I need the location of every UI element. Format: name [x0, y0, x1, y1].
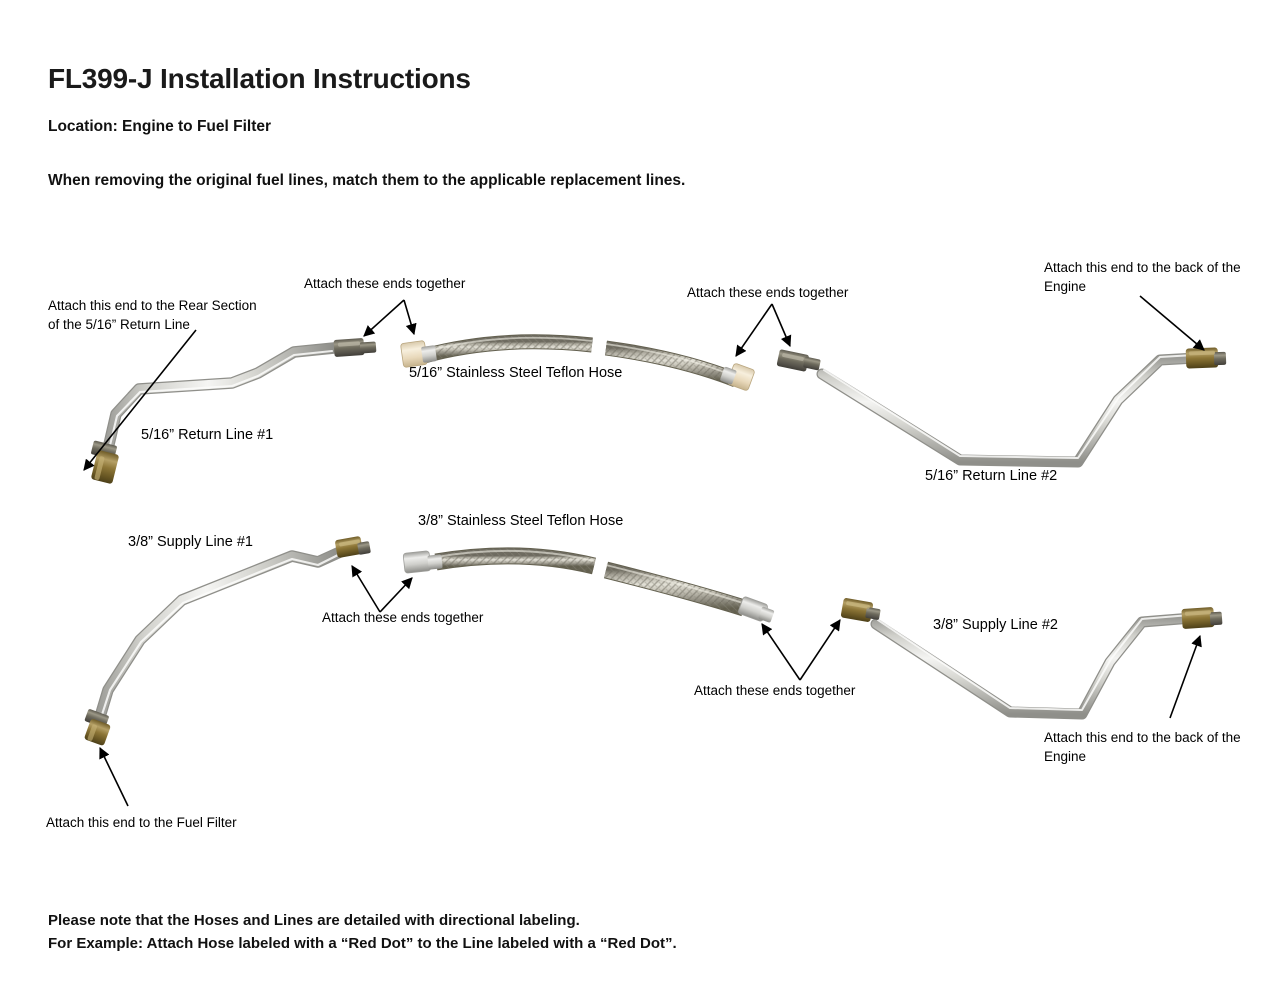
arrow-engine-upper: [1140, 296, 1204, 350]
arrow-join-lower-right-b: [800, 620, 840, 680]
footnote-directional-labeling: Please note that the Hoses and Lines are…: [48, 912, 580, 929]
instruction-sheet: FL399-J Installation Instructions Locati…: [0, 0, 1280, 989]
anno-join-left-label: Attach these ends together: [304, 274, 465, 293]
fitting-brass-return2-engine-end: [1186, 347, 1227, 368]
arrow-join-lower-right-a: [762, 624, 800, 680]
part-label-teflon-hose-38: 3/8” Stainless Steel Teflon Hose: [418, 513, 623, 529]
hose-end-516-left: [400, 340, 437, 367]
fitting-nut-return1-hose-side: [333, 338, 376, 357]
arrow-rear-section: [84, 330, 196, 470]
page-title: FL399-J Installation Instructions: [48, 63, 471, 95]
fuel-line-diagram: [0, 0, 1280, 989]
part-label-supply-line-1: 3/8” Supply Line #1: [128, 534, 253, 550]
intro-line: When removing the original fuel lines, m…: [48, 172, 685, 190]
fitting-brass-supply2-hose-side: [840, 598, 880, 623]
anno-join-lower-left-label: Attach these ends together: [322, 608, 483, 627]
arrow-join-left-b: [404, 300, 414, 334]
anno-rear-section-label: Attach this end to the Rear Section of t…: [48, 296, 263, 334]
hose-end-516-right: [720, 363, 755, 391]
part-label-return-line-1: 5/16” Return Line #1: [141, 427, 273, 443]
hose-end-38-left: [403, 551, 443, 574]
arrow-join-right-b: [772, 304, 790, 346]
part-label-teflon-hose-516: 5/16” Stainless Steel Teflon Hose: [409, 365, 622, 381]
part-supply-line-2: [840, 598, 1222, 714]
fitting-brass-supply1-hose-side: [335, 536, 371, 558]
arrow-join-right-a: [736, 304, 772, 356]
arrow-fuel-filter: [100, 748, 128, 806]
fitting-nut-return2-hose-side: [776, 349, 820, 372]
fitting-brass-supply2-engine-end: [1181, 607, 1222, 629]
anno-join-right-label: Attach these ends together: [687, 283, 848, 302]
part-return-line-1: [91, 338, 377, 484]
anno-engine-lower-label: Attach this end to the back of the Engin…: [1044, 728, 1266, 766]
location-line: Location: Engine to Fuel Filter: [48, 118, 271, 136]
part-label-supply-line-2: 3/8” Supply Line #2: [933, 617, 1058, 633]
hose-end-38-right: [738, 596, 775, 623]
lower-arrows: [100, 566, 1200, 806]
part-supply-line-1: [84, 536, 371, 746]
anno-join-lower-right-label: Attach these ends together: [694, 681, 855, 700]
part-label-return-line-2: 5/16” Return Line #2: [925, 468, 1057, 484]
arrow-join-lower-left-b: [380, 578, 412, 612]
footnote-red-dot-example: For Example: Attach Hose labeled with a …: [48, 935, 677, 952]
part-return-line-2: [776, 347, 1226, 462]
anno-fuel-filter-label: Attach this end to the Fuel Filter: [46, 813, 246, 832]
arrow-engine-lower: [1170, 636, 1200, 718]
anno-engine-upper-label: Attach this end to the back of the Engin…: [1044, 258, 1266, 296]
fitting-brass-supply1-filter-end: [84, 709, 111, 746]
fitting-brass-return1-end: [91, 440, 120, 484]
arrow-join-left-a: [364, 300, 404, 336]
arrow-join-lower-left-a: [352, 566, 380, 612]
